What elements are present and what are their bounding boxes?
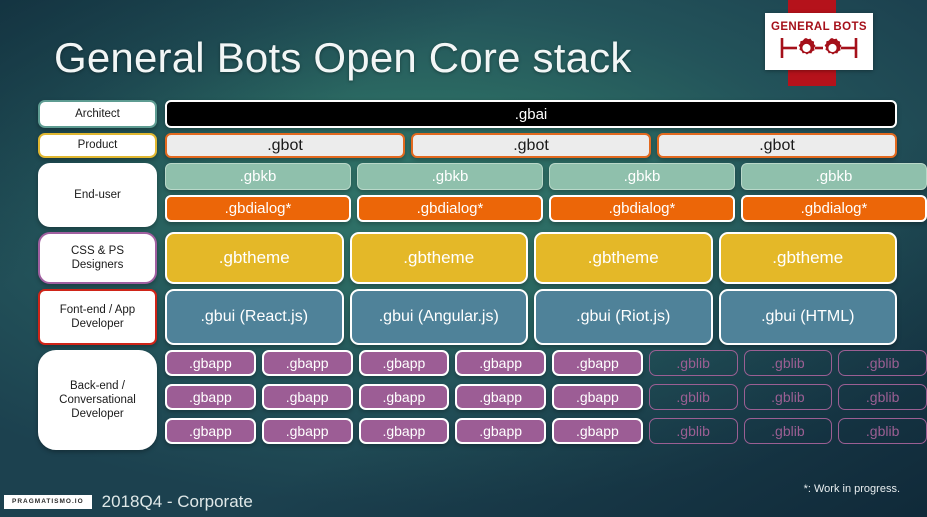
role-label-end-user: End-user bbox=[38, 163, 157, 227]
cell-gblib[interactable]: .gblib bbox=[744, 418, 833, 444]
subrow-backend-2: .gbapp .gbapp .gbapp .gbapp .gbapp .gbli… bbox=[165, 384, 927, 410]
cell-gblib[interactable]: .gblib bbox=[838, 418, 927, 444]
cell-gbkb[interactable]: .gbkb bbox=[165, 163, 351, 190]
row-end-user: End-user .gbkb .gbkb .gbkb .gbkb .gbdial… bbox=[0, 163, 927, 227]
cell-gbapp[interactable]: .gbapp bbox=[262, 384, 353, 410]
row-architect: Architect .gbai bbox=[0, 100, 927, 128]
cell-gbtheme[interactable]: .gbtheme bbox=[165, 232, 344, 284]
row-frontend: Font-end / AppDeveloper .gbui (React.js)… bbox=[0, 289, 927, 345]
row-designers-cells: .gbtheme .gbtheme .gbtheme .gbtheme bbox=[165, 232, 897, 284]
cell-gbtheme[interactable]: .gbtheme bbox=[350, 232, 529, 284]
cell-gbdialog[interactable]: .gbdialog* bbox=[549, 195, 735, 222]
subrow-gbdialog: .gbdialog* .gbdialog* .gbdialog* .gbdial… bbox=[165, 195, 927, 222]
pragmatismo-logo: PRAGMATISMO.IO bbox=[4, 495, 92, 510]
footer-caption: 2018Q4 - Corporate bbox=[102, 492, 253, 512]
cell-gbkb[interactable]: .gbkb bbox=[549, 163, 735, 190]
role-label-backend: Back-end /ConversationalDeveloper bbox=[38, 350, 157, 450]
cell-gblib[interactable]: .gblib bbox=[744, 350, 833, 376]
cell-gblib[interactable]: .gblib bbox=[838, 384, 927, 410]
logo-wordmark: GENERAL BOTS bbox=[771, 22, 867, 34]
cell-gbkb[interactable]: .gbkb bbox=[741, 163, 927, 190]
cell-gbapp[interactable]: .gbapp bbox=[455, 384, 546, 410]
slide-canvas: GENERAL BOTS General Bots Open Core stac… bbox=[0, 0, 927, 517]
cell-gbapp[interactable]: .gbapp bbox=[262, 350, 353, 376]
cell-gbtheme[interactable]: .gbtheme bbox=[534, 232, 713, 284]
cell-gbkb[interactable]: .gbkb bbox=[357, 163, 543, 190]
cell-gbapp[interactable]: .gbapp bbox=[359, 350, 450, 376]
cell-gbapp[interactable]: .gbapp bbox=[165, 384, 256, 410]
cell-gbui-angular[interactable]: .gbui (Angular.js) bbox=[350, 289, 529, 345]
cell-gbui-html[interactable]: .gbui (HTML) bbox=[719, 289, 898, 345]
subrow-backend-3: .gbapp .gbapp .gbapp .gbapp .gbapp .gbli… bbox=[165, 418, 927, 444]
role-label-frontend: Font-end / AppDeveloper bbox=[38, 289, 157, 345]
row-frontend-cells: .gbui (React.js) .gbui (Angular.js) .gbu… bbox=[165, 289, 897, 345]
cell-gbdialog[interactable]: .gbdialog* bbox=[357, 195, 543, 222]
cell-gbapp[interactable]: .gbapp bbox=[165, 418, 256, 444]
cell-gbtheme[interactable]: .gbtheme bbox=[719, 232, 898, 284]
cell-gbui-riot[interactable]: .gbui (Riot.js) bbox=[534, 289, 713, 345]
cell-gbapp[interactable]: .gbapp bbox=[359, 384, 450, 410]
cell-gbdialog[interactable]: .gbdialog* bbox=[741, 195, 927, 222]
cell-gbapp[interactable]: .gbapp bbox=[359, 418, 450, 444]
cell-gbot[interactable]: .gbot bbox=[411, 133, 651, 158]
subrow-backend-1: .gbapp .gbapp .gbapp .gbapp .gbapp .gbli… bbox=[165, 350, 927, 376]
role-label-designers: CSS & PSDesigners bbox=[38, 232, 157, 284]
cell-gblib[interactable]: .gblib bbox=[744, 384, 833, 410]
cell-gblib[interactable]: .gblib bbox=[649, 418, 738, 444]
row-backend: Back-end /ConversationalDeveloper .gbapp… bbox=[0, 350, 927, 450]
cell-gbapp[interactable]: .gbapp bbox=[165, 350, 256, 376]
cell-gbapp[interactable]: .gbapp bbox=[552, 350, 643, 376]
row-product: Product .gbot .gbot .gbot bbox=[0, 133, 927, 158]
row-backend-cells: .gbapp .gbapp .gbapp .gbapp .gbapp .gbli… bbox=[165, 350, 927, 450]
stack-diagram: Architect .gbai Product .gbot .gbot .gbo… bbox=[0, 100, 927, 455]
row-product-cells: .gbot .gbot .gbot bbox=[165, 133, 897, 158]
cell-gbapp[interactable]: .gbapp bbox=[552, 418, 643, 444]
general-bots-logo: GENERAL BOTS bbox=[765, 13, 873, 70]
cell-gbot[interactable]: .gbot bbox=[165, 133, 405, 158]
cell-gbdialog[interactable]: .gbdialog* bbox=[165, 195, 351, 222]
cell-gblib[interactable]: .gblib bbox=[649, 350, 738, 376]
cell-gbapp[interactable]: .gbapp bbox=[455, 418, 546, 444]
two-gears-icon bbox=[777, 35, 861, 61]
page-title: General Bots Open Core stack bbox=[54, 34, 632, 82]
cell-gbot[interactable]: .gbot bbox=[657, 133, 897, 158]
role-label-product: Product bbox=[38, 133, 157, 158]
slide-footer: PRAGMATISMO.IO 2018Q4 - Corporate bbox=[0, 487, 927, 517]
cell-gbapp[interactable]: .gbapp bbox=[552, 384, 643, 410]
subrow-gbkb: .gbkb .gbkb .gbkb .gbkb bbox=[165, 163, 927, 190]
row-end-user-cells: .gbkb .gbkb .gbkb .gbkb .gbdialog* .gbdi… bbox=[165, 163, 927, 227]
cell-gblib[interactable]: .gblib bbox=[838, 350, 927, 376]
role-label-architect: Architect bbox=[38, 100, 157, 128]
cell-gbai[interactable]: .gbai bbox=[165, 100, 897, 128]
row-designers: CSS & PSDesigners .gbtheme .gbtheme .gbt… bbox=[0, 232, 927, 284]
cell-gbapp[interactable]: .gbapp bbox=[455, 350, 546, 376]
cell-gbui-react[interactable]: .gbui (React.js) bbox=[165, 289, 344, 345]
row-architect-cells: .gbai bbox=[165, 100, 897, 128]
cell-gblib[interactable]: .gblib bbox=[649, 384, 738, 410]
cell-gbapp[interactable]: .gbapp bbox=[262, 418, 353, 444]
